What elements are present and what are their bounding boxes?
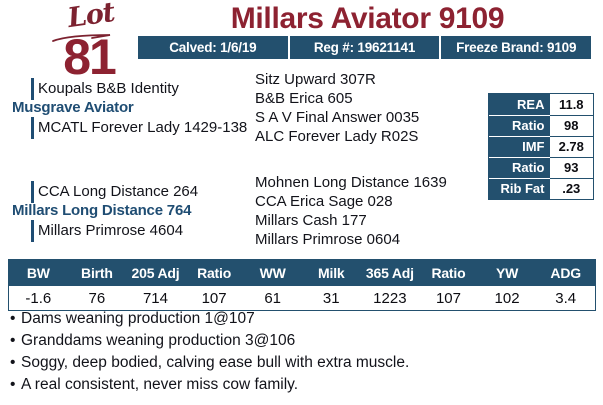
stats-header-milk: Milk (302, 260, 361, 286)
stats-header-birth: Birth (68, 260, 127, 286)
stats-header-yw: YW (478, 260, 537, 286)
bullet-icon: • (10, 330, 21, 352)
sire-bracket-bottom (31, 117, 34, 139)
calved-date: Calved: 1/6/19 (138, 36, 290, 59)
ultrasound-label-imf-ratio: Ratio (489, 157, 549, 178)
sire-grandparent-3: S A V Final Answer 0035 (255, 108, 419, 127)
stats-value-row: -1.6 76 714 107 61 31 1223 107 102 3.4 (9, 286, 595, 311)
performance-stats-table: BW Birth 205 Adj Ratio WW Milk 365 Adj R… (8, 259, 596, 311)
ultrasound-table: REA 11.8 Ratio 98 IMF 2.78 Ratio 93 Rib … (488, 93, 594, 200)
stats-value-yw: 102 (478, 286, 537, 311)
stats-header-adg: ADG (536, 260, 595, 286)
sire-grandparent-2: B&B Erica 605 (255, 89, 353, 108)
stats-header-ww: WW (243, 260, 302, 286)
dam-sire-name: CCA Long Distance 264 (38, 182, 198, 201)
ultrasound-value-rea: 11.8 (549, 94, 593, 115)
list-item: •Dams weaning production 1@107 (10, 308, 595, 330)
sire-grandparent-4: ALC Forever Lady R02S (255, 127, 418, 146)
ultrasound-value-rea-ratio: 98 (549, 115, 593, 136)
sire-dam-name: MCATL Forever Lady 1429-138 (38, 118, 247, 137)
stats-value-205-adj: 714 (126, 286, 185, 311)
lot-badge: Lot 81 (34, 2, 144, 82)
dam-grandparent-2: CCA Erica Sage 028 (255, 192, 393, 211)
stats-value-ww: 61 (243, 286, 302, 311)
dam-grandparent-3: Millars Cash 177 (255, 211, 367, 230)
table-row: Rib Fat .23 (489, 178, 593, 199)
ultrasound-label-rib-fat: Rib Fat (489, 178, 549, 199)
stats-header-yw-ratio: Ratio (419, 260, 478, 286)
notes-list: •Dams weaning production 1@107 •Granddam… (10, 308, 595, 396)
bullet-icon: • (10, 308, 21, 330)
list-item: •Soggy, deep bodied, calving ease bull w… (10, 352, 595, 374)
list-item: •A real consistent, never miss cow famil… (10, 374, 595, 396)
list-item: •Granddams weaning production 3@106 (10, 330, 595, 352)
sire-bracket-top (31, 78, 34, 100)
ultrasound-label-imf: IMF (489, 136, 549, 157)
dam-dam-name: Millars Primrose 4604 (38, 221, 183, 240)
dam-bracket-top (31, 181, 34, 203)
note-text: Granddams weaning production 3@106 (21, 332, 295, 349)
lot-listing-card: Lot 81 Millars Aviator 9109 Calved: 1/6/… (0, 0, 603, 405)
info-bar: Calved: 1/6/19 Reg #: 19621141 Freeze Br… (138, 36, 591, 59)
registration-number: Reg #: 19621141 (290, 36, 442, 59)
note-text: Dams weaning production 1@107 (21, 310, 255, 327)
ultrasound-value-imf-ratio: 93 (549, 157, 593, 178)
stats-value-yw-ratio: 107 (419, 286, 478, 311)
table-row: Ratio 93 (489, 157, 593, 178)
bullet-icon: • (10, 374, 21, 396)
stats-value-bw: -1.6 (9, 286, 68, 311)
table-row: REA 11.8 (489, 94, 593, 115)
ultrasound-value-rib-fat: .23 (549, 178, 593, 199)
animal-title: Millars Aviator 9109 (140, 2, 595, 36)
dam-name: Millars Long Distance 764 (12, 201, 191, 220)
sire-name: Musgrave Aviator (12, 98, 134, 117)
stats-value-ww-ratio: 107 (185, 286, 244, 311)
note-text: Soggy, deep bodied, calving ease bull wi… (21, 354, 409, 371)
stats-header-row: BW Birth 205 Adj Ratio WW Milk 365 Adj R… (9, 260, 595, 286)
dam-grandparent-1: Mohnen Long Distance 1639 (255, 173, 447, 192)
sire-sire-name: Koupals B&B Identity (38, 79, 179, 98)
freeze-brand: Freeze Brand: 9109 (441, 36, 591, 59)
dam-bracket-bottom (31, 220, 34, 242)
stats-value-365-adj: 1223 (361, 286, 420, 311)
stats-header-ww-ratio: Ratio (185, 260, 244, 286)
sire-grandparent-1: Sitz Upward 307R (255, 70, 376, 89)
stats-value-birth: 76 (68, 286, 127, 311)
stats-value-milk: 31 (302, 286, 361, 311)
stats-header-205-adj: 205 Adj (126, 260, 185, 286)
stats-value-adg: 3.4 (536, 286, 595, 311)
table-row: IMF 2.78 (489, 136, 593, 157)
ultrasound-value-imf: 2.78 (549, 136, 593, 157)
ultrasound-label-rea-ratio: Ratio (489, 115, 549, 136)
table-row: Ratio 98 (489, 115, 593, 136)
bullet-icon: • (10, 352, 21, 374)
ultrasound-label-rea: REA (489, 94, 549, 115)
note-text: A real consistent, never miss cow family… (21, 376, 298, 393)
stats-header-bw: BW (9, 260, 68, 286)
dam-grandparent-4: Millars Primrose 0604 (255, 230, 400, 249)
stats-header-365-adj: 365 Adj (361, 260, 420, 286)
